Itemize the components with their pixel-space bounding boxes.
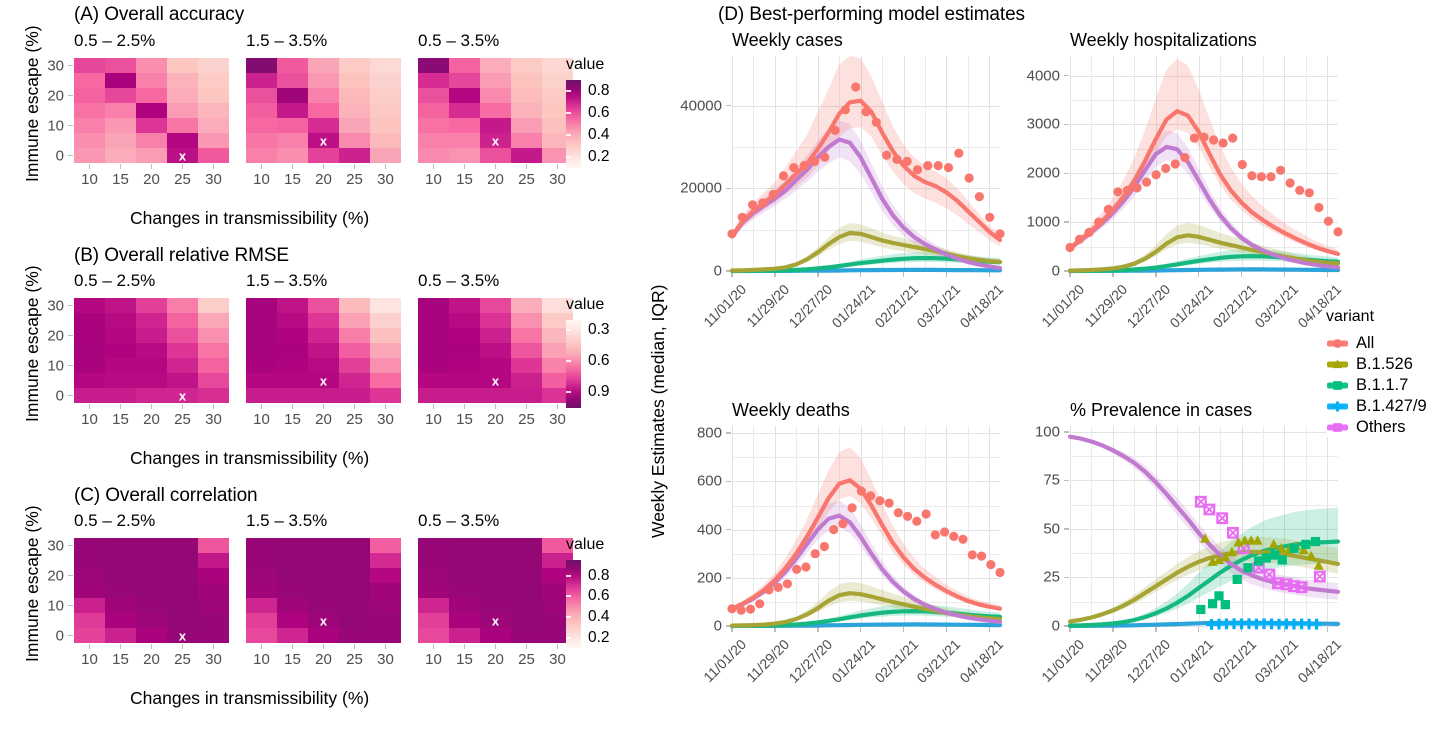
heatmap-cell — [511, 73, 542, 88]
colorbar-tick-label: 0.9 — [588, 383, 610, 401]
heatmap-x-tick: 20 — [143, 171, 160, 188]
heatmap-cell — [136, 388, 167, 403]
heatmap-cell — [480, 298, 511, 313]
heatmap-cell — [418, 553, 449, 568]
gridline-vertical — [1284, 56, 1285, 271]
gridline-vertical-minor — [1263, 56, 1264, 271]
heatmap-y-tick: 0 — [56, 627, 64, 644]
heatmap-x-tickmark — [213, 164, 215, 169]
legend-item-b1526[interactable]: B.1.526 — [1326, 354, 1427, 375]
heatmap-y-tick: 10 — [47, 357, 64, 374]
heatmap-cell — [246, 553, 277, 568]
x-axis-tickmark — [1069, 272, 1071, 277]
heatmap-cell — [105, 553, 136, 568]
heatmap-cell — [167, 73, 198, 88]
x-axis-tickmark — [989, 272, 991, 277]
heatmap-x-tickmark — [354, 404, 356, 409]
heatmap-cell — [74, 358, 105, 373]
gridline-horizontal-minor — [1070, 247, 1338, 248]
heatmap-cell — [370, 388, 401, 403]
heatmap-cell — [198, 133, 229, 148]
heatmap-x-tick: 10 — [253, 171, 270, 188]
gridline-vertical-minor — [1177, 56, 1178, 271]
heatmap-cell — [480, 103, 511, 118]
heatmap-x-tickmark — [89, 404, 91, 409]
heatmap-grid — [418, 538, 573, 643]
heatmap-cell — [339, 568, 370, 583]
x-axis-tickmark — [1284, 272, 1286, 277]
x-axis-tickmark — [1112, 627, 1114, 632]
heatmap-x-tickmark — [464, 164, 466, 169]
gridline-horizontal-minor — [732, 457, 1000, 458]
y-axis-tickmark — [1064, 577, 1069, 579]
heatmap-x-tick: 20 — [315, 651, 332, 668]
heatmap-cell — [105, 358, 136, 373]
heatmap-y-tickmark — [68, 365, 73, 367]
heatmap-x-tickmark — [261, 404, 263, 409]
heatmap-cell — [277, 538, 308, 553]
x-axis-tickmark — [946, 627, 948, 632]
heatmap-cell — [308, 553, 339, 568]
gridline-horizontal — [1070, 626, 1338, 627]
heatmap-cell — [418, 298, 449, 313]
variant-legend: variant AllB.1.526B.1.1.7B.1.427/9Others — [1326, 308, 1427, 438]
x-axis-tickmark — [774, 272, 776, 277]
heatmap-x-tickmark — [433, 404, 435, 409]
heatmap-x-tick: 25 — [174, 411, 191, 428]
heatmap-cell — [308, 298, 339, 313]
heatmap-cell — [277, 148, 308, 163]
heatmap-x-tickmark — [526, 164, 528, 169]
gridline-horizontal — [732, 433, 1000, 434]
heatmap-cell — [370, 88, 401, 103]
heatmap-cell — [74, 73, 105, 88]
heatmap-cell — [418, 148, 449, 163]
x-axis-tickmark — [946, 272, 948, 277]
heatmap-cell — [480, 133, 511, 148]
heatmap-cell — [198, 343, 229, 358]
heatmap-x-tick: 15 — [456, 651, 473, 668]
heatmap-cell — [246, 613, 277, 628]
heatmap-cell — [105, 298, 136, 313]
heatmap-cell — [198, 358, 229, 373]
heatmap-cell — [198, 373, 229, 388]
heatmap-cell — [480, 313, 511, 328]
colorbar-tick-dash — [566, 637, 571, 639]
heatmap-cell — [370, 73, 401, 88]
heatmap-x-tick: 10 — [81, 411, 98, 428]
legend-item-all[interactable]: All — [1326, 333, 1427, 354]
heatmap-cell — [74, 133, 105, 148]
y-axis-tickmark — [1064, 124, 1069, 126]
heatmap-cell — [198, 583, 229, 598]
colorbar-title: value — [566, 536, 604, 554]
heatmap-cell — [418, 628, 449, 643]
legend-item-b14279[interactable]: B.1.427/9 — [1326, 396, 1427, 417]
panel-d: (D) Best-performing model estimates Week… — [640, 0, 1451, 733]
heatmap-cell — [277, 298, 308, 313]
panel-b-x-axis-label: Changes in transmissibility (%) — [130, 448, 369, 469]
heatmap-cell — [198, 58, 229, 73]
heatmap-cell — [339, 118, 370, 133]
heatmap-cell — [277, 73, 308, 88]
heatmap-cell — [418, 373, 449, 388]
heatmap-cell — [370, 313, 401, 328]
heatmap-cell — [370, 583, 401, 598]
heatmap-cell — [418, 568, 449, 583]
heatmap-cell — [136, 358, 167, 373]
heatmap-y-tick: 30 — [47, 297, 64, 314]
heatmap-cell — [74, 313, 105, 328]
heatmap-y-tickmark — [68, 395, 73, 397]
plot-area — [732, 426, 1000, 626]
gridline-horizontal — [1070, 432, 1338, 433]
x-axis-tickmark — [731, 272, 733, 277]
gridline-vertical — [818, 56, 819, 271]
heatmap-cell — [105, 568, 136, 583]
y-axis-tick-label: 0 — [1008, 263, 1060, 280]
y-axis-tick-label: 3000 — [1008, 116, 1060, 133]
heatmap-x-tick: 15 — [456, 171, 473, 188]
heatmap-cell — [167, 343, 198, 358]
heatmap-cell — [277, 133, 308, 148]
x-axis-tickmark — [903, 627, 905, 632]
heatmap-cell — [246, 88, 277, 103]
heatmap-cell — [308, 88, 339, 103]
heatmap-cell — [511, 613, 542, 628]
legend-item-b117[interactable]: B.1.1.7 — [1326, 375, 1427, 396]
heatmap-x-tick: 15 — [112, 171, 129, 188]
heatmap-x-tick: 25 — [174, 651, 191, 668]
heatmap-cell — [277, 583, 308, 598]
heatmap-cell — [74, 628, 105, 643]
heatmap-cell — [74, 118, 105, 133]
y-axis-tickmark — [1064, 431, 1069, 433]
heatmap-facet-a-0: x1015202530 — [74, 58, 229, 163]
colorbar-tick-dash — [566, 360, 571, 362]
heatmap-x-tickmark — [557, 404, 559, 409]
heatmap-cell — [308, 388, 339, 403]
heatmap-cell — [418, 103, 449, 118]
gridline-vertical — [946, 56, 947, 271]
heatmap-x-tick: 10 — [425, 651, 442, 668]
heatmap-cell — [339, 598, 370, 613]
heatmap-cell — [136, 88, 167, 103]
gridline-horizontal — [732, 188, 1000, 189]
y-axis-tickmark — [1064, 75, 1069, 77]
y-axis-tickmark — [726, 188, 731, 190]
y-axis-tickmark — [726, 481, 731, 483]
heatmap-cell — [449, 313, 480, 328]
x-axis-tickmark — [989, 627, 991, 632]
heatmap-y-tickmark — [68, 605, 73, 607]
y-axis-tick-label: 50 — [1008, 520, 1060, 537]
colorbar-tick-label: 0.4 — [588, 608, 610, 626]
gridline-vertical-minor — [882, 426, 883, 626]
heatmap-cell — [277, 103, 308, 118]
y-axis-tick-label: 4000 — [1008, 67, 1060, 84]
heatmap-y-tick: 10 — [47, 597, 64, 614]
panel-b-facet-label-0: 0.5 – 2.5% — [74, 271, 155, 291]
heatmap-cell — [511, 568, 542, 583]
gridline-vertical — [1156, 426, 1157, 626]
heatmap-cell — [511, 388, 542, 403]
heatmap-cell — [246, 298, 277, 313]
legend-item-label: All — [1356, 334, 1374, 353]
heatmap-cell — [74, 103, 105, 118]
heatmap-cell — [480, 613, 511, 628]
colorbar-tick-dash — [566, 90, 571, 92]
subplot-title: Weekly deaths — [732, 400, 850, 421]
heatmap-cell — [339, 538, 370, 553]
gridline-horizontal-minor — [732, 602, 1000, 603]
heatmap-cell — [277, 388, 308, 403]
heatmap-cell — [418, 358, 449, 373]
heatmap-cell — [308, 328, 339, 343]
heatmap-cell — [511, 313, 542, 328]
heatmap-x-tick: 30 — [377, 411, 394, 428]
heatmap-cell — [449, 373, 480, 388]
heatmap-cell — [449, 73, 480, 88]
y-axis-tickmark — [1064, 221, 1069, 223]
colorbar-tick-label: 0.4 — [588, 126, 610, 144]
heatmap-cell — [511, 328, 542, 343]
y-axis-tickmark — [726, 625, 731, 627]
heatmap-cell — [198, 73, 229, 88]
gridline-horizontal — [1070, 529, 1338, 530]
gridline-horizontal-minor — [732, 506, 1000, 507]
gridline-vertical-minor — [753, 56, 754, 271]
heatmap-cell — [136, 73, 167, 88]
y-axis-tick-label: 25 — [1008, 569, 1060, 586]
heatmap-cell — [511, 583, 542, 598]
heatmap-y-tick: 30 — [47, 57, 64, 74]
heatmap-cell — [418, 613, 449, 628]
heatmap-cell — [74, 598, 105, 613]
heatmap-cell — [198, 628, 229, 643]
heatmap-facet-b-2: x1015202530 — [418, 298, 573, 403]
x-axis-tickmark — [1112, 272, 1114, 277]
heatmap-cell — [277, 58, 308, 73]
legend-item-others[interactable]: Others — [1326, 417, 1427, 438]
heatmap-cell — [74, 328, 105, 343]
gridline-vertical-minor — [1134, 426, 1135, 626]
legend-item-label: Others — [1356, 418, 1406, 437]
variant-legend-title: variant — [1326, 308, 1427, 326]
heatmap-cell — [480, 583, 511, 598]
heatmap-x-tickmark — [495, 164, 497, 169]
heatmap-cell — [370, 538, 401, 553]
heatmap-x-tickmark — [433, 164, 435, 169]
heatmap-cell — [136, 568, 167, 583]
gridline-horizontal — [1070, 76, 1338, 77]
colorbar-tick-dash — [566, 134, 571, 136]
heatmap-cell — [105, 58, 136, 73]
heatmap-x-tickmark — [213, 644, 215, 649]
colorbar-tick-dash — [566, 595, 571, 597]
heatmap-cell — [308, 373, 339, 388]
y-axis-tickmark — [1064, 173, 1069, 175]
gridline-vertical — [1070, 56, 1071, 271]
heatmap-cell — [480, 343, 511, 358]
heatmap-cell — [511, 103, 542, 118]
gridline-vertical-minor — [1091, 56, 1092, 271]
legend-key-swatch — [1326, 376, 1349, 395]
heatmap-cell — [418, 598, 449, 613]
heatmap-cell — [246, 583, 277, 598]
heatmap-cell — [136, 133, 167, 148]
heatmap-cell — [167, 118, 198, 133]
heatmap-cell — [136, 298, 167, 313]
heatmap-x-tickmark — [526, 644, 528, 649]
heatmap-cell — [246, 568, 277, 583]
heatmap-cell — [418, 73, 449, 88]
heatmap-y-tick: 20 — [47, 567, 64, 584]
heatmap-cell — [105, 628, 136, 643]
heatmap-cell — [370, 628, 401, 643]
panel-c-facet-label-0: 0.5 – 2.5% — [74, 511, 155, 531]
gridline-horizontal — [1070, 124, 1338, 125]
heatmap-cell — [246, 538, 277, 553]
heatmap-cell — [74, 553, 105, 568]
heatmap-facet-c-0: x1015202530 — [74, 538, 229, 643]
gridline-horizontal — [1070, 480, 1338, 481]
heatmap-cell — [136, 313, 167, 328]
x-axis-tickmark — [817, 272, 819, 277]
heatmap-cell — [277, 568, 308, 583]
heatmap-cell — [339, 73, 370, 88]
gridline-vertical-minor — [1134, 56, 1135, 271]
heatmap-x-tick: 20 — [143, 651, 160, 668]
gridline-horizontal — [1070, 222, 1338, 223]
heatmap-cell — [246, 103, 277, 118]
gridline-vertical — [1199, 56, 1200, 271]
gridline-vertical — [1242, 426, 1243, 626]
heatmap-cell — [480, 358, 511, 373]
x-axis-tickmark — [1327, 627, 1329, 632]
heatmap-x-tickmark — [354, 164, 356, 169]
heatmap-cell — [370, 373, 401, 388]
heatmap-x-tick: 20 — [143, 411, 160, 428]
heatmap-x-tickmark — [182, 404, 184, 409]
heatmap-cell — [418, 388, 449, 403]
heatmap-x-tick: 30 — [205, 411, 222, 428]
heatmap-x-tickmark — [292, 164, 294, 169]
gridline-vertical — [818, 426, 819, 626]
gridline-horizontal-minor — [1070, 602, 1338, 603]
panel-d-y-axis-label: Weekly Estimates (median, IQR) — [648, 285, 669, 539]
heatmap-cell — [449, 538, 480, 553]
gridline-vertical — [946, 426, 947, 626]
heatmap-cell — [511, 538, 542, 553]
heatmap-cell — [198, 568, 229, 583]
heatmap-cell — [277, 628, 308, 643]
gridline-vertical — [1327, 426, 1328, 626]
colorbar-tick-label: 0.6 — [588, 104, 610, 122]
heatmap-x-tickmark — [495, 644, 497, 649]
heatmap-grid — [418, 58, 573, 163]
heatmap-x-tickmark — [385, 404, 387, 409]
panel-c-title: (C) Overall correlation — [74, 485, 258, 507]
heatmap-cell — [198, 538, 229, 553]
panel-a-x-axis-label: Changes in transmissibility (%) — [130, 208, 369, 229]
heatmap-y-tickmark — [68, 545, 73, 547]
colorbar-tick-dash — [566, 156, 571, 158]
heatmap-cell — [449, 583, 480, 598]
heatmap-x-tick: 25 — [518, 651, 535, 668]
heatmap-x-tick: 10 — [425, 411, 442, 428]
heatmap-cell — [370, 358, 401, 373]
gridline-horizontal-minor — [732, 230, 1000, 231]
heatmap-cell — [308, 598, 339, 613]
heatmap-cell — [74, 583, 105, 598]
heatmap-x-tickmark — [464, 404, 466, 409]
heatmap-x-tick: 15 — [284, 171, 301, 188]
heatmap-y-tickmark — [68, 125, 73, 127]
y-axis-tick-label: 200 — [670, 569, 722, 586]
heatmap-cell — [308, 613, 339, 628]
colorbar-tick-label: 0.2 — [588, 148, 610, 166]
heatmap-facet-b-0: x1015202530 — [74, 298, 229, 403]
heatmap-grid — [74, 538, 229, 643]
heatmap-cell — [167, 538, 198, 553]
heatmap-x-tick: 30 — [377, 651, 394, 668]
gridline-vertical-minor — [1177, 426, 1178, 626]
colorbar-tick-label: 0.2 — [588, 629, 610, 647]
heatmap-cell — [167, 328, 198, 343]
heatmap-cell — [246, 628, 277, 643]
gridline-horizontal-minor — [1070, 553, 1338, 554]
gridline-horizontal — [732, 481, 1000, 482]
heatmap-cell — [136, 343, 167, 358]
x-axis-tickmark — [860, 627, 862, 632]
heatmap-cell — [308, 358, 339, 373]
heatmap-cell — [198, 313, 229, 328]
heatmap-x-tick: 15 — [284, 651, 301, 668]
panel-b-title: (B) Overall relative RMSE — [74, 245, 289, 267]
heatmap-cell — [480, 553, 511, 568]
heatmap-cell — [480, 118, 511, 133]
heatmap-x-tickmark — [464, 644, 466, 649]
gridline-vertical — [1284, 426, 1285, 626]
heatmap-cell — [511, 598, 542, 613]
panel-c-facet-label-1: 1.5 – 3.5% — [246, 511, 327, 531]
heatmap-x-tick: 15 — [112, 411, 129, 428]
heatmap-cell — [74, 388, 105, 403]
heatmap-y-tick: 0 — [56, 147, 64, 164]
heatmap-cell — [370, 133, 401, 148]
gridline-vertical-minor — [882, 56, 883, 271]
gridline-horizontal-minor — [1070, 100, 1338, 101]
y-axis-tick-label: 75 — [1008, 472, 1060, 489]
heatmap-cell — [136, 328, 167, 343]
gridline-horizontal-minor — [732, 554, 1000, 555]
legend-item-label: B.1.427/9 — [1356, 397, 1427, 416]
heatmap-facet-c-2: x1015202530 — [418, 538, 573, 643]
heatmap-y-tickmark — [68, 95, 73, 97]
heatmap-cell — [308, 148, 339, 163]
legend-key-swatch — [1326, 355, 1349, 374]
panel-a-title: (A) Overall accuracy — [74, 4, 244, 26]
gridline-vertical-minor — [1091, 426, 1092, 626]
y-axis-tick-label: 1000 — [1008, 214, 1060, 231]
heatmap-x-tickmark — [323, 164, 325, 169]
x-axis-tickmark — [1198, 272, 1200, 277]
gridline-vertical-minor — [839, 426, 840, 626]
heatmap-cell — [370, 148, 401, 163]
heatmap-x-tickmark — [182, 164, 184, 169]
heatmap-cell — [167, 553, 198, 568]
